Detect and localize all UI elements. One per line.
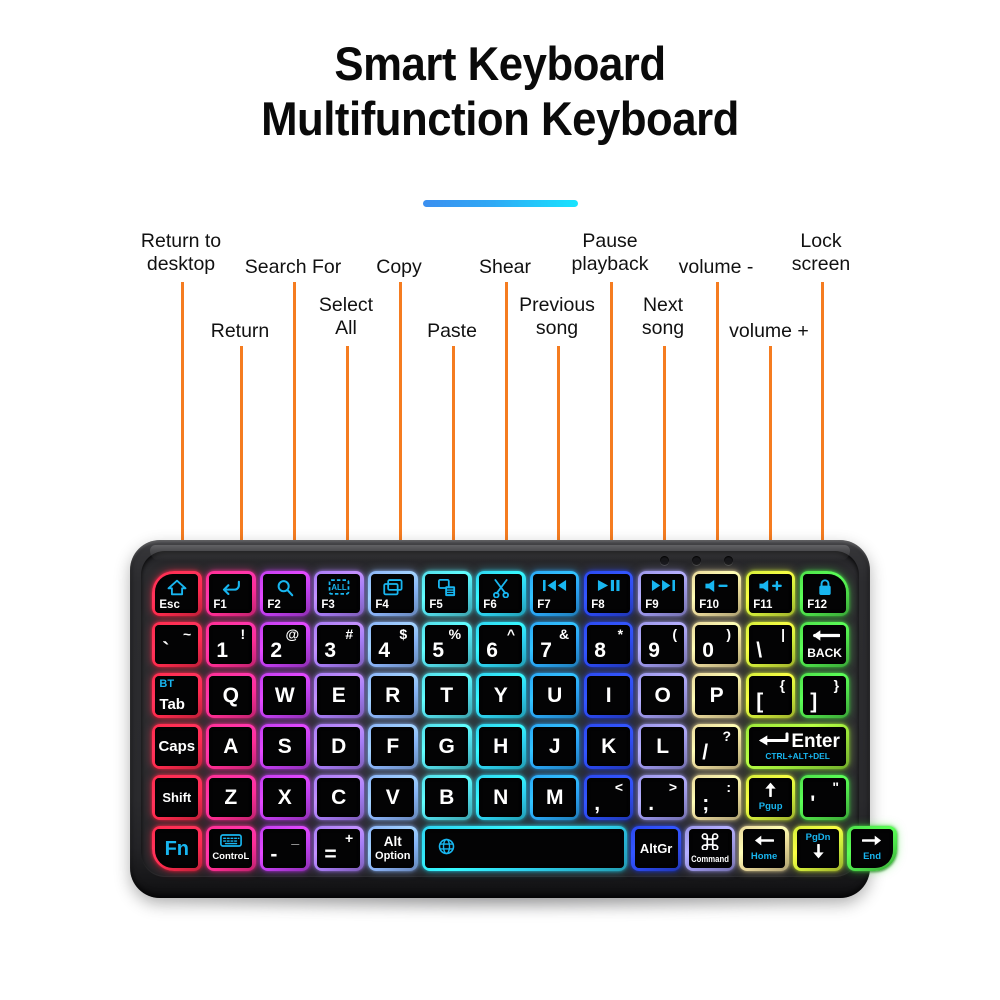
key-z[interactable]: Z: [206, 775, 256, 820]
keycap-dual-legend: "': [803, 778, 846, 816]
indicator-led: [660, 556, 669, 565]
key-1[interactable]: !1: [206, 622, 256, 667]
key-f8[interactable]: F8: [584, 571, 634, 616]
key-left[interactable]: Home: [739, 826, 789, 871]
keycap-face: {[: [749, 676, 792, 714]
key-5[interactable]: %5: [422, 622, 472, 667]
key-f11[interactable]: F11: [746, 571, 796, 616]
keycap-face: F12: [803, 574, 846, 612]
keycap-face: F10: [695, 574, 738, 612]
keycap-base-legend: 3: [324, 638, 336, 663]
keycap-face: S: [263, 727, 306, 765]
key-n[interactable]: N: [476, 775, 526, 820]
callout-label-line: Return to: [111, 230, 251, 253]
keycap-label: A: [223, 736, 238, 757]
keycap-shifted-legend: &: [559, 626, 569, 643]
callout-label-line: Select: [276, 294, 416, 317]
key-m[interactable]: M: [530, 775, 580, 820]
keycap-face: Caps: [155, 727, 198, 765]
keycap-fn-label: F7: [537, 600, 550, 612]
key-esc[interactable]: Esc: [152, 571, 202, 616]
keycap-label: Caps: [158, 739, 195, 755]
keycap-dual-legend: ?/: [695, 727, 738, 765]
key-altgr[interactable]: AltGr: [631, 826, 681, 871]
keycap-label: R: [385, 685, 400, 706]
keycap-dual-legend: <,: [587, 778, 630, 816]
keycap-face: End: [851, 829, 894, 867]
key-equal[interactable]: +=: [314, 826, 364, 871]
keycap-label: V: [386, 787, 400, 808]
key-alt[interactable]: AltOption: [368, 826, 418, 871]
title-accent-bar: [423, 200, 578, 207]
keycap-base-legend: =: [324, 842, 336, 867]
keycap-dual-legend: %5: [425, 625, 468, 663]
key-tab[interactable]: BTTab: [152, 673, 202, 718]
keycap-face: L: [641, 727, 684, 765]
indicator-led: [692, 556, 701, 565]
enter-arrow-icon: [755, 732, 789, 752]
keycap-face: #3: [317, 625, 360, 663]
keycap-label: T: [440, 685, 453, 706]
enter-legend-row: Enter: [755, 732, 840, 752]
keycap-dual-legend: +=: [317, 829, 360, 867]
keycap-face: C: [317, 778, 360, 816]
keycap-label: K: [601, 736, 616, 757]
key-back[interactable]: BACK: [800, 622, 850, 667]
keycap-face: >.: [641, 778, 684, 816]
keycap-dual-legend: (9: [641, 625, 684, 663]
page-title-line2: Multifunction Keyboard: [35, 91, 965, 146]
keycap-face: X: [263, 778, 306, 816]
key-d[interactable]: D: [314, 724, 364, 769]
keycap-face: [425, 829, 623, 867]
keycap-face: PgDn: [797, 829, 840, 867]
key-f4[interactable]: F4: [368, 571, 418, 616]
keycap-face: B: [425, 778, 468, 816]
keycap-dual-legend: )0: [695, 625, 738, 663]
keycap-shifted-legend: ): [726, 626, 731, 643]
keycap-dual-legend: }]: [803, 676, 846, 714]
prev-track-icon: [543, 579, 567, 592]
keycap-shifted-legend: ~: [183, 626, 191, 643]
keycap-fn-label: F11: [753, 600, 772, 612]
keycap-label: M: [546, 787, 564, 808]
keycap-dual-legend: ^6: [479, 625, 522, 663]
keycap-face: Esc: [155, 574, 198, 612]
keycap-legend: ControL: [212, 834, 249, 862]
key-b[interactable]: B: [422, 775, 472, 820]
keycap-fn-label: F6: [483, 600, 496, 612]
keycap-face: F11: [749, 574, 792, 612]
keycap-fn-label: F5: [429, 600, 442, 612]
key-row-function-row: EscF1F2ALLF3F4F5F6F7F8F9F10F11F12: [152, 571, 849, 616]
keycap-fn-label: F2: [267, 600, 280, 612]
key-3[interactable]: #3: [314, 622, 364, 667]
keycap-base-legend: .: [648, 791, 654, 816]
keycap-fn-label: F8: [591, 600, 604, 612]
key-slash[interactable]: ?/: [692, 724, 742, 769]
keycap-label: Fn: [165, 839, 189, 859]
key-f[interactable]: F: [368, 724, 418, 769]
keycap-face: :;: [695, 778, 738, 816]
keycap-face: P: [695, 676, 738, 714]
keycap-face: Command: [689, 829, 732, 867]
keycap-dual-legend: #3: [317, 625, 360, 663]
key-minus[interactable]: _-: [260, 826, 310, 871]
keycap-face: F1: [209, 574, 252, 612]
keycap-base-legend: 9: [648, 638, 660, 663]
keycap-dual-legend: >.: [641, 778, 684, 816]
backspace-arrow-icon: [810, 629, 840, 647]
keycap-face: Y: [479, 676, 522, 714]
keycap-face: E: [317, 676, 360, 714]
keycap-face: N: [479, 778, 522, 816]
keycap-fn-label: F4: [375, 600, 388, 612]
keycap-label: Tab: [159, 697, 185, 713]
keycap-sublabel: Pgup: [759, 802, 783, 812]
keycap-label: U: [547, 685, 562, 706]
keycap-label: Q: [223, 685, 239, 706]
keycap-fn-label: F3: [321, 600, 334, 612]
key-semi[interactable]: :;: [692, 775, 742, 820]
key-f10[interactable]: F10: [692, 571, 742, 616]
keycap-label: Y: [494, 685, 508, 706]
volume-up-icon: [758, 579, 783, 593]
key-7[interactable]: &7: [530, 622, 580, 667]
keycap-face: F7: [533, 574, 576, 612]
key-4[interactable]: $4: [368, 622, 418, 667]
key-l[interactable]: L: [638, 724, 688, 769]
keycap-label: Shift: [162, 791, 191, 805]
keycap-face: D: [317, 727, 360, 765]
key-g[interactable]: G: [422, 724, 472, 769]
next-track-icon: [651, 579, 675, 592]
key-f6[interactable]: F6: [476, 571, 526, 616]
key-q[interactable]: Q: [206, 673, 256, 718]
key-row-number-row: ~`!1@2#3$4%5^6&7*8(9)0|\BACK: [152, 622, 849, 667]
keycap-dual-legend: !1: [209, 625, 252, 663]
keycap-label: O: [654, 685, 670, 706]
keycap-fn-label: F9: [645, 600, 658, 612]
keycap-face: O: [641, 676, 684, 714]
keycap-face: BACK: [803, 625, 846, 663]
keycap-label: Z: [224, 787, 237, 808]
key-quote[interactable]: "': [800, 775, 850, 820]
keycap-dual-legend: ~`: [155, 625, 198, 663]
keycap-label: D: [331, 736, 346, 757]
key-t[interactable]: T: [422, 673, 472, 718]
key-up[interactable]: Pgup: [746, 775, 796, 820]
keycap-legend: BACK: [807, 629, 842, 660]
keycap-shifted-legend: ^: [507, 626, 515, 643]
keycap-base-legend: \: [756, 638, 762, 663]
lock-icon: [818, 579, 832, 596]
keycap-fn-label: Esc: [159, 600, 179, 612]
callout-label-f12: Lockscreen: [751, 230, 891, 276]
key-f12[interactable]: F12: [800, 571, 850, 616]
keycap-label: Enter: [791, 732, 840, 751]
keycap-face: K: [587, 727, 630, 765]
keycap-face: I: [587, 676, 630, 714]
keycap-shifted-legend: {: [780, 677, 785, 694]
key-row-shift-row: ShiftZXCVBNM<,>.:;Pgup"': [152, 775, 849, 820]
key-f3[interactable]: ALLF3: [314, 571, 364, 616]
key-row-bottom-row: FnControL_-+=AltOptionAltGrCommandHomePg…: [152, 826, 897, 871]
keycap-label: Command: [691, 855, 729, 865]
keycap-shifted-legend: %: [449, 626, 461, 643]
keycap-dual-legend: {[: [749, 676, 792, 714]
key-2[interactable]: @2: [260, 622, 310, 667]
keycap-base-legend: 1: [216, 638, 228, 663]
keycap-face: G: [425, 727, 468, 765]
keycap-base-legend: -: [270, 842, 277, 867]
keycap-legend: EnterCTRL+ALT+DEL: [755, 732, 840, 761]
keycap-shifted-legend: ?: [722, 728, 731, 745]
scissors-icon: [492, 579, 509, 598]
keycap-base-legend: ': [810, 791, 815, 816]
keycap-label: F: [386, 736, 399, 757]
key-p[interactable]: P: [692, 673, 742, 718]
callout-label-line: Lock: [751, 230, 891, 253]
keycap-fn-label: F10: [699, 600, 719, 612]
keycap-label: BACK: [807, 647, 842, 660]
keycap-face: U: [533, 676, 576, 714]
key-f7[interactable]: F7: [530, 571, 580, 616]
keycap-label: B: [439, 787, 454, 808]
keycap-face: BTTab: [155, 676, 198, 714]
key-control[interactable]: ControL: [206, 826, 256, 871]
globe-icon: [438, 838, 455, 860]
keycap-label: I: [606, 685, 612, 706]
keycap-label: J: [549, 736, 561, 757]
key-6[interactable]: ^6: [476, 622, 526, 667]
key-row-home-row: CapsASDFGHJKL?/EnterCTRL+ALT+DEL: [152, 724, 849, 769]
keycap-sublabel: CTRL+ALT+DEL: [765, 752, 830, 761]
keycap-face: *8: [587, 625, 630, 663]
arrow-right-icon: [862, 834, 882, 852]
keycap-sublabel: Home: [751, 852, 777, 862]
callout-label-f11: volume +: [699, 320, 839, 343]
keycap-base-legend: /: [702, 740, 708, 765]
key-v[interactable]: V: [368, 775, 418, 820]
keycap-label: Alt: [384, 835, 402, 849]
key-rbracket[interactable]: }]: [800, 673, 850, 718]
key-f9[interactable]: F9: [638, 571, 688, 616]
keycap-base-legend: 5: [432, 638, 444, 663]
keycap-base-legend: [: [756, 689, 763, 714]
key-0[interactable]: )0: [692, 622, 742, 667]
keycap-face: F5: [425, 574, 468, 612]
key-i[interactable]: I: [584, 673, 634, 718]
key-f1[interactable]: F1: [206, 571, 256, 616]
keycap-shifted-legend: ": [832, 779, 839, 796]
keycap-shifted-legend: |: [781, 626, 785, 643]
keycap-face: Fn: [155, 829, 198, 867]
key-8[interactable]: *8: [584, 622, 634, 667]
key-command[interactable]: Command: [685, 826, 735, 871]
keycap-base-legend: 4: [378, 638, 390, 663]
key-a[interactable]: A: [206, 724, 256, 769]
keycap-legend: Command: [689, 833, 732, 865]
key-lbracket[interactable]: {[: [746, 673, 796, 718]
key-right[interactable]: End: [847, 826, 897, 871]
keycap-face: Home: [743, 829, 786, 867]
keycap-fn-label: F12: [807, 600, 827, 612]
key-c[interactable]: C: [314, 775, 364, 820]
keycap-base-legend: ;: [702, 791, 709, 816]
keycap-shifted-legend: _: [291, 830, 299, 847]
keycap-face: ?/: [695, 727, 738, 765]
key-tilde[interactable]: ~`: [152, 622, 202, 667]
keycap-base-legend: 8: [594, 638, 606, 663]
keycap-dual-legend: |\: [749, 625, 792, 663]
key-u[interactable]: U: [530, 673, 580, 718]
key-w[interactable]: W: [260, 673, 310, 718]
keycap-face: ControL: [209, 829, 252, 867]
keycap-base-legend: ]: [810, 689, 817, 714]
keycap-face: _-: [263, 829, 306, 867]
keycap-face: @2: [263, 625, 306, 663]
keycap-label: ControL: [212, 852, 249, 862]
keycap-face: A: [209, 727, 252, 765]
key-j[interactable]: J: [530, 724, 580, 769]
arrow-up-icon: [764, 782, 777, 802]
keycap-face: ^6: [479, 625, 522, 663]
keycap-face: $4: [371, 625, 414, 663]
keycap-face: |\: [749, 625, 792, 663]
keycap-bt-badge: BT: [159, 678, 174, 690]
key-shift[interactable]: Shift: [152, 775, 202, 820]
keycap-label: AltGr: [640, 842, 673, 856]
keycap-face: F6: [479, 574, 522, 612]
key-o[interactable]: O: [638, 673, 688, 718]
keycap-face: R: [371, 676, 414, 714]
keycap-legend: Home: [751, 834, 777, 862]
keycap-shifted-legend: *: [618, 626, 623, 643]
keycap-face: J: [533, 727, 576, 765]
page-title: Smart Keyboard Multifunction Keyboard: [35, 36, 965, 147]
keycap-base-legend: 0: [702, 638, 714, 663]
keycap-base-legend: ,: [594, 791, 600, 816]
key-row-qwerty-row: BTTabQWERTYUIOP{[}]: [152, 673, 849, 718]
keycap-legend: PgDn: [806, 833, 831, 863]
keycap-label: P: [710, 685, 724, 706]
keycap-shifted-legend: @: [286, 626, 300, 643]
key-h[interactable]: H: [476, 724, 526, 769]
keyboard-icon: [220, 834, 242, 852]
keycap-shifted-legend: >: [669, 779, 677, 796]
keycap-face: T: [425, 676, 468, 714]
keycap-face: ~`: [155, 625, 198, 663]
keycap-shifted-legend: #: [345, 626, 353, 643]
keycap-face: Q: [209, 676, 252, 714]
keycap-label: L: [656, 736, 669, 757]
keycap-shifted-legend: +: [345, 830, 353, 847]
key-9[interactable]: (9: [638, 622, 688, 667]
keycap-label: C: [331, 787, 346, 808]
keycap-face: <,: [587, 778, 630, 816]
keycap-face: }]: [803, 676, 846, 714]
keycap-face: %5: [425, 625, 468, 663]
keycap-base-legend: 2: [270, 638, 282, 663]
callout-label-line: volume +: [699, 320, 839, 343]
keycap-sublabel: Option: [375, 850, 410, 862]
paste-icon: [437, 579, 456, 597]
keycap-base-legend: 7: [540, 638, 552, 663]
callout-label-line: Next: [593, 294, 733, 317]
return-arrow-icon: [220, 579, 241, 595]
key-caps[interactable]: Caps: [152, 724, 202, 769]
keycap-face: F2: [263, 574, 306, 612]
indicator-led-strip: [660, 556, 733, 565]
keycap-face: F4: [371, 574, 414, 612]
key-period[interactable]: >.: [638, 775, 688, 820]
keycap-face: V: [371, 778, 414, 816]
keycap-legend: End: [862, 834, 882, 862]
keycap-dual-legend: $4: [371, 625, 414, 663]
keycap-face: !1: [209, 625, 252, 663]
key-f5[interactable]: F5: [422, 571, 472, 616]
key-down[interactable]: PgDn: [793, 826, 843, 871]
keycap-dual-legend: _-: [263, 829, 306, 867]
keycap-face: +=: [317, 829, 360, 867]
keycap-face: F8: [587, 574, 630, 612]
key-f2[interactable]: F2: [260, 571, 310, 616]
keycap-face: ALLF3: [317, 574, 360, 612]
keycap-fn-label: F1: [213, 600, 226, 612]
keycap-label: E: [332, 685, 346, 706]
key-y[interactable]: Y: [476, 673, 526, 718]
callout-label-line: screen: [751, 253, 891, 276]
key-k[interactable]: K: [584, 724, 634, 769]
key-s[interactable]: S: [260, 724, 310, 769]
keycap-label: S: [278, 736, 292, 757]
keycap-base-legend: `: [162, 638, 169, 663]
keycap-face: Shift: [155, 778, 198, 816]
callout-label-line: Pause: [540, 230, 680, 253]
key-comma[interactable]: <,: [584, 775, 634, 820]
key-fn[interactable]: Fn: [152, 826, 202, 871]
key-x[interactable]: X: [260, 775, 310, 820]
keycap-dual-legend: &7: [533, 625, 576, 663]
keycap-shifted-legend: <: [615, 779, 623, 796]
keycap-face: &7: [533, 625, 576, 663]
arrow-down-icon: [812, 844, 825, 864]
keycap-label: N: [493, 787, 508, 808]
keycap-face: "': [803, 778, 846, 816]
keycap-face: )0: [695, 625, 738, 663]
keycap-label: G: [439, 736, 455, 757]
key-space[interactable]: [422, 826, 627, 871]
command-icon: [701, 833, 719, 855]
select-all-icon: ALL: [328, 579, 349, 595]
search-icon: [276, 579, 294, 597]
key-enter[interactable]: EnterCTRL+ALT+DEL: [746, 724, 850, 769]
home-icon: [166, 579, 187, 596]
keycap-sublabel: End: [863, 852, 881, 862]
key-e[interactable]: E: [314, 673, 364, 718]
key-pipe[interactable]: |\: [746, 622, 796, 667]
arrow-left-icon: [754, 834, 774, 852]
keycap-face: AltOption: [371, 829, 414, 867]
keycap-shifted-legend: :: [726, 779, 731, 796]
volume-down-icon: [704, 579, 729, 593]
svg-text:ALL: ALL: [331, 584, 346, 593]
keycap-face: (9: [641, 625, 684, 663]
keycap-legend: AltOption: [375, 835, 410, 861]
key-r[interactable]: R: [368, 673, 418, 718]
keycap-dual-legend: :;: [695, 778, 738, 816]
